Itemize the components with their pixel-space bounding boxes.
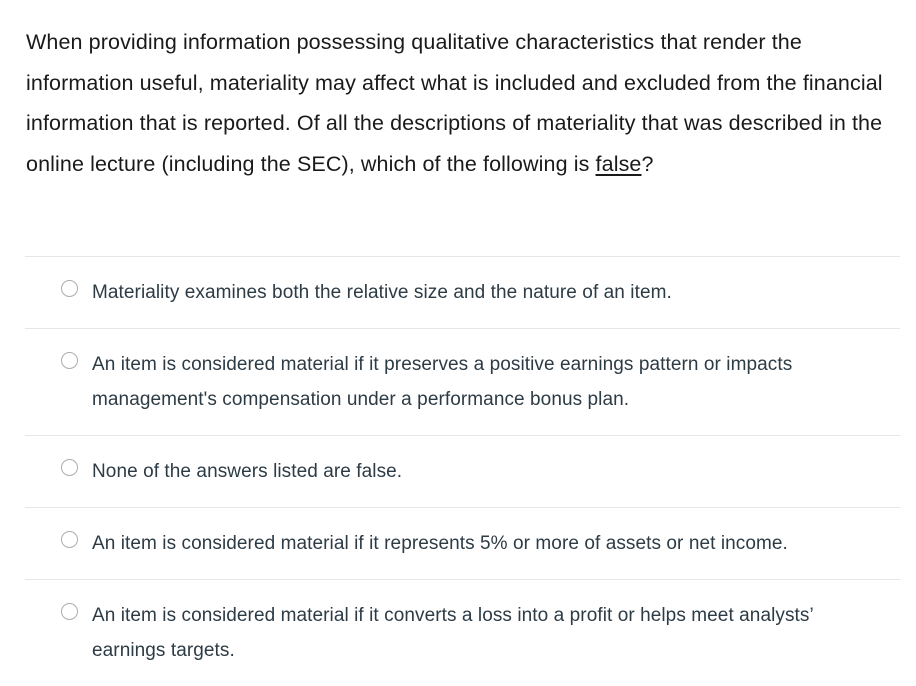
question-emphasis-false: false xyxy=(596,152,642,176)
answer-option-label: Materiality examines both the relative s… xyxy=(92,275,672,310)
answer-options-list: Materiality examines both the relative s… xyxy=(0,256,916,686)
radio-unselected-icon[interactable] xyxy=(61,459,78,476)
answer-option-label: An item is considered material if it rep… xyxy=(92,526,788,561)
answer-option-5[interactable]: An item is considered material if it con… xyxy=(25,579,900,686)
answer-option-label: An item is considered material if it pre… xyxy=(92,347,882,417)
radio-unselected-icon[interactable] xyxy=(61,352,78,369)
answer-option-4[interactable]: An item is considered material if it rep… xyxy=(25,507,900,579)
quiz-question-panel: When providing information possessing qu… xyxy=(0,0,916,682)
answer-option-label: An item is considered material if it con… xyxy=(92,598,882,668)
radio-unselected-icon[interactable] xyxy=(61,280,78,297)
question-text-part-2: ? xyxy=(642,152,654,176)
radio-unselected-icon[interactable] xyxy=(61,603,78,620)
answer-option-2[interactable]: An item is considered material if it pre… xyxy=(25,328,900,435)
question-stem: When providing information possessing qu… xyxy=(26,22,898,184)
radio-unselected-icon[interactable] xyxy=(61,531,78,548)
answer-option-3[interactable]: None of the answers listed are false. xyxy=(25,435,900,507)
answer-option-label: None of the answers listed are false. xyxy=(92,454,402,489)
question-text-part-1: When providing information possessing qu… xyxy=(26,30,883,176)
answer-option-1[interactable]: Materiality examines both the relative s… xyxy=(25,256,900,328)
